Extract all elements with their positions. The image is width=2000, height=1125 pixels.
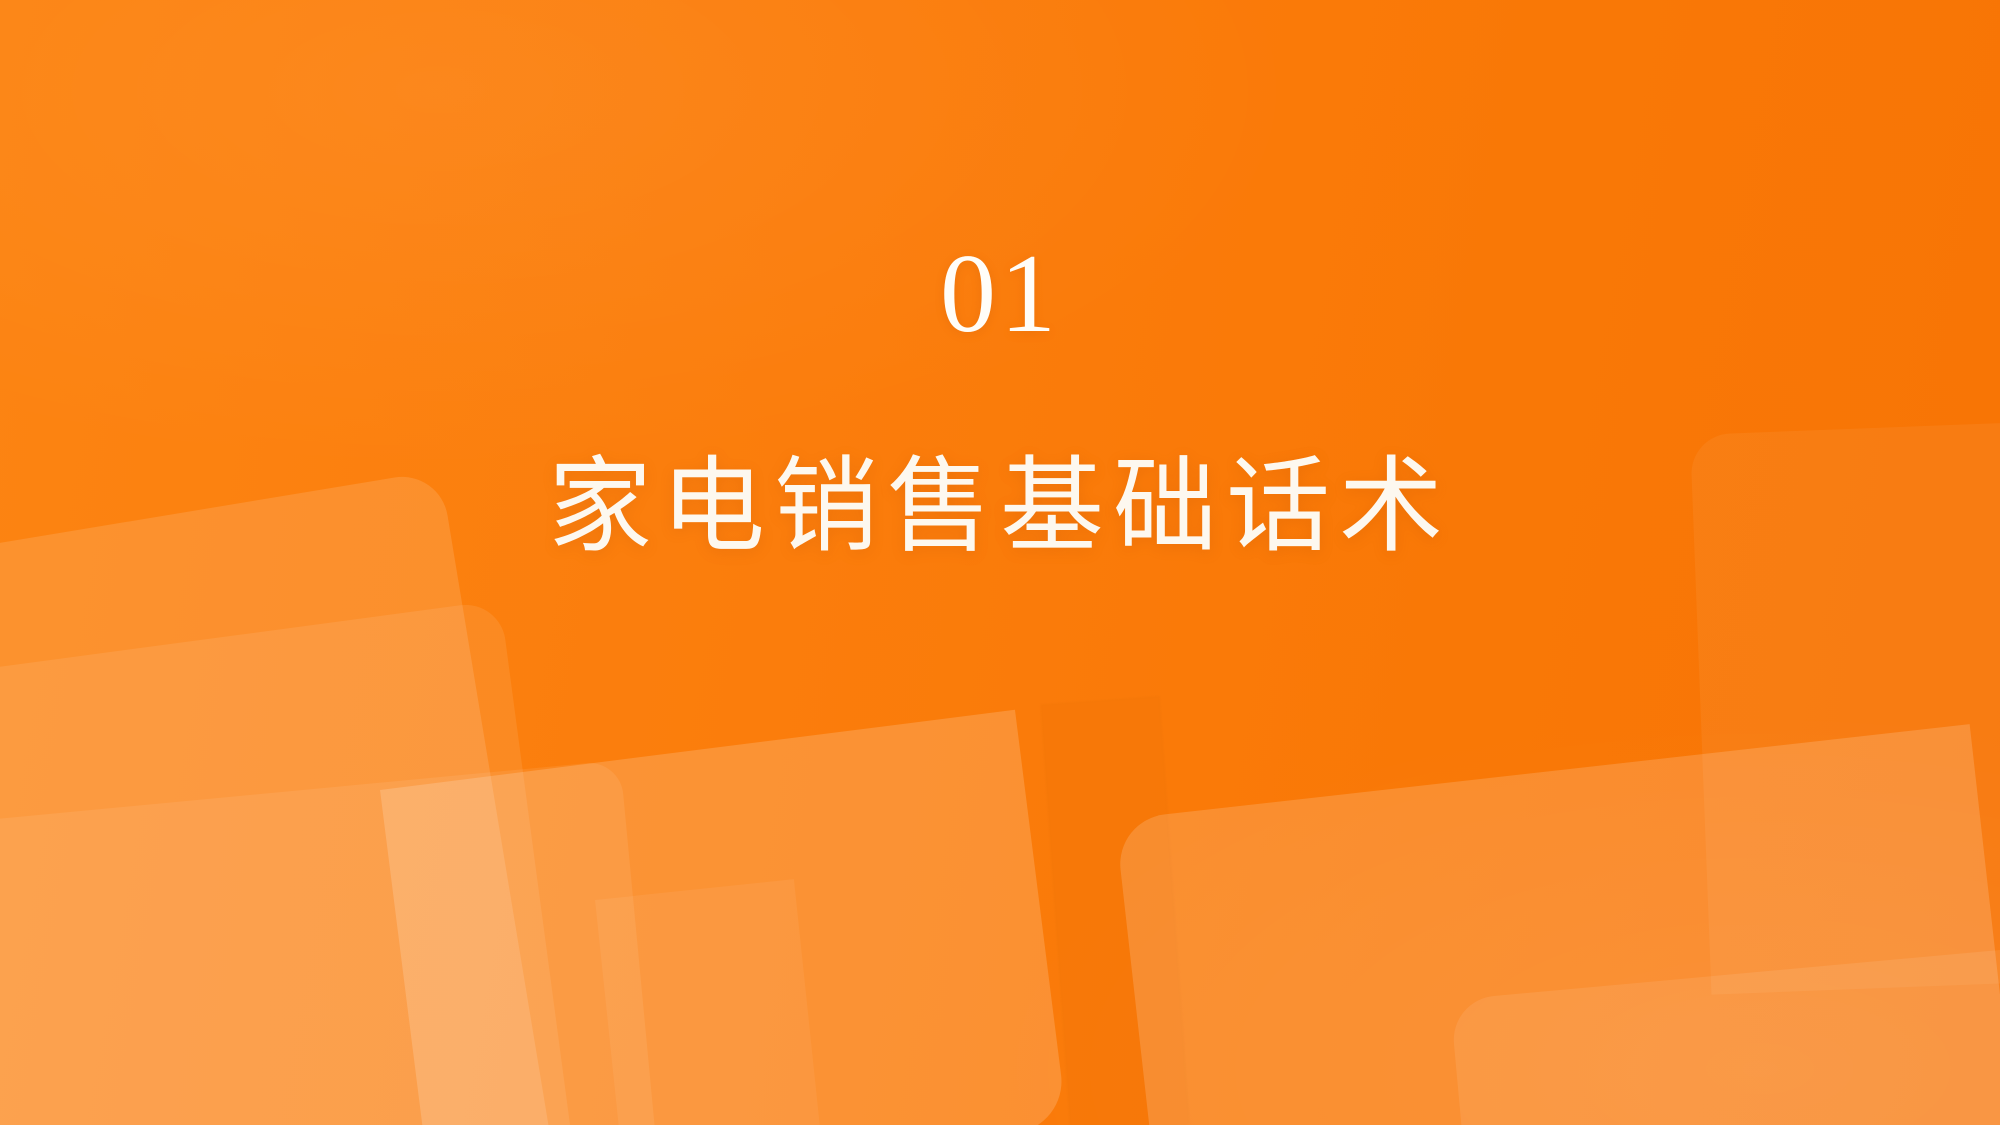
section-divider-slide: 01 家电销售基础话术 xyxy=(0,0,2000,1125)
section-title: 家电销售基础话术 xyxy=(548,450,1452,566)
slide-content: 01 家电销售基础话术 xyxy=(0,0,2000,1125)
section-number: 01 xyxy=(940,238,1060,350)
